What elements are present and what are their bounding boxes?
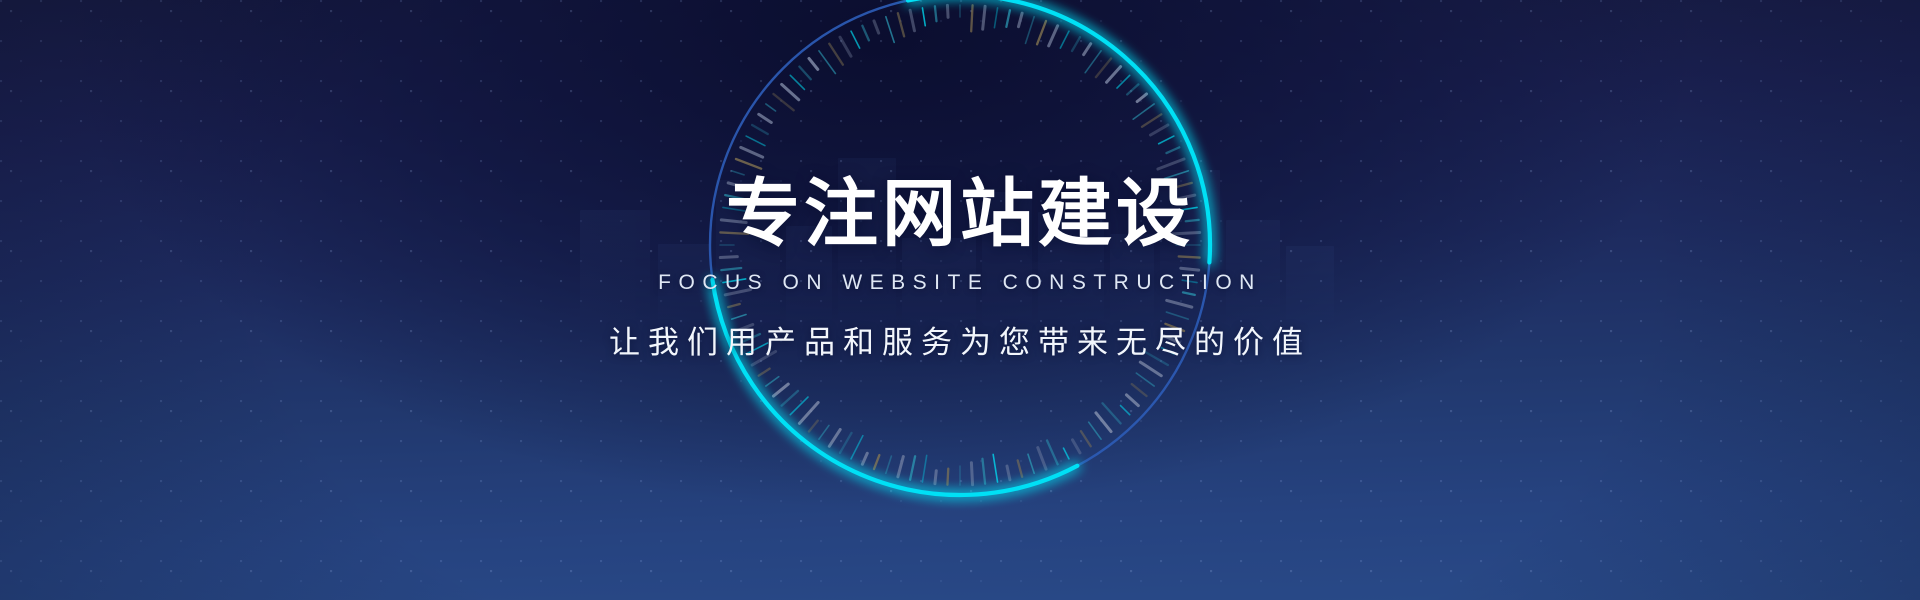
page-title: 专注网站建设 [0, 176, 1920, 253]
subtitle-english: FOCUS ON WEBSITE CONSTRUCTION [0, 271, 1920, 295]
banner-text-block: 专注网站建设 FOCUS ON WEBSITE CONSTRUCTION 让我们… [0, 176, 1920, 362]
subtitle-chinese: 让我们用产品和服务为您带来无尽的价值 [0, 317, 1920, 362]
hero-banner: 专注网站建设 FOCUS ON WEBSITE CONSTRUCTION 让我们… [0, 0, 1920, 600]
